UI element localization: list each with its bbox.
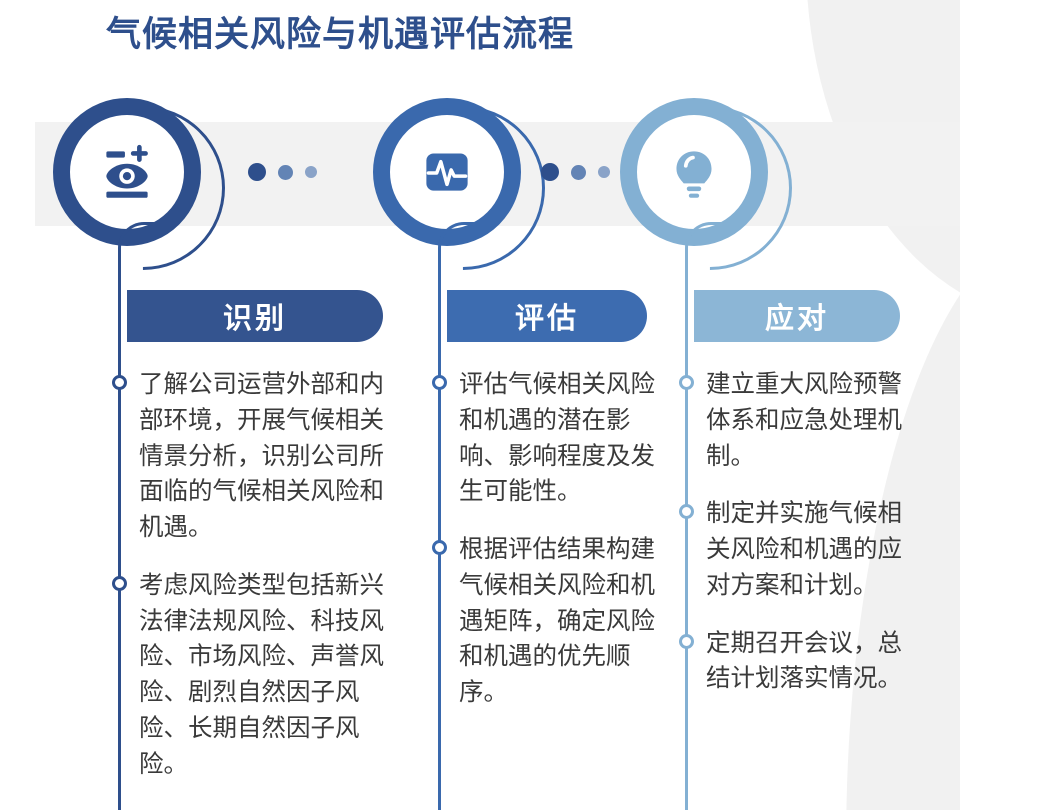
list-item: 考虑风险类型包括新兴法律法规风险、科技风险、市场风险、声誉风险、剧烈自然因子风险… [105,567,395,782]
background-right-mask [960,0,1056,810]
connector-dot-icon [598,166,610,178]
connector-dot-icon [278,165,293,180]
stage-node-assess[interactable] [373,98,521,246]
bullet-list-identify: 了解公司运营外部和内部环境，开展气候相关情景分析，识别公司所面临的气候相关风险和… [105,366,395,803]
connector-dots-assess-respond [541,163,610,181]
pulse-monitor-icon [414,139,480,205]
bullet-marker-icon [112,375,127,390]
bullet-text: 评估气候相关风险和机遇的潜在影响、影响程度及发生可能性。 [459,366,660,509]
list-item: 评估气候相关风险和机遇的潜在影响、影响程度及发生可能性。 [425,366,660,509]
bullet-marker-icon [679,504,694,519]
connector-dot-icon [248,163,266,181]
connector-elbow-assess [438,222,493,272]
lightbulb-icon [661,139,727,205]
stage-label-assess: 评估 [447,290,647,342]
bullet-marker-icon [432,540,447,555]
list-item: 制定并实施气候相关风险和机遇的应对方案和计划。 [672,495,907,602]
stage-icon-ring-identify [53,98,201,246]
list-item: 根据评估结果构建气候相关风险和机遇矩阵，确定风险和机遇的优先顺序。 [425,531,660,710]
connector-dot-icon [305,166,317,178]
page-title: 气候相关风险与机遇评估流程 [106,6,574,57]
bullet-text: 根据评估结果构建气候相关风险和机遇矩阵，确定风险和机遇的优先顺序。 [459,531,660,710]
list-item: 了解公司运营外部和内部环境，开展气候相关情景分析，识别公司所面临的气候相关风险和… [105,366,395,545]
stage-label-identify: 识别 [127,290,383,342]
bullet-text: 建立重大风险预警体系和应急处理机制。 [706,366,907,473]
bullet-marker-icon [112,576,127,591]
connector-elbow-identify [118,222,173,272]
bullet-list-assess: 评估气候相关风险和机遇的潜在影响、影响程度及发生可能性。 根据评估结果构建气候相… [425,366,660,732]
list-item: 定期召开会议，总结计划落实情况。 [672,625,907,697]
bullet-text: 制定并实施气候相关风险和机遇的应对方案和计划。 [706,495,907,602]
connector-dots-identify-assess [248,163,317,181]
stage-icon-ring-respond [620,98,768,246]
infographic-canvas: 气候相关风险与机遇评估流程 识别 了解公司运营外部和内部环境， [0,0,1056,810]
stage-icon-ring-assess [373,98,521,246]
bullet-text: 了解公司运营外部和内部环境，开展气候相关情景分析，识别公司所面临的气候相关风险和… [139,366,395,545]
stage-node-identify[interactable] [53,98,201,246]
eye-plus-icon [94,139,160,205]
bullet-marker-icon [679,375,694,390]
connector-elbow-respond [685,222,740,272]
bullet-marker-icon [432,375,447,390]
bullet-list-respond: 建立重大风险预警体系和应急处理机制。 制定并实施气候相关风险和机遇的应对方案和计… [672,366,907,718]
bullet-text: 定期召开会议，总结计划落实情况。 [706,625,907,697]
stage-node-respond[interactable] [620,98,768,246]
stage-label-respond: 应对 [694,290,900,342]
bullet-text: 考虑风险类型包括新兴法律法规风险、科技风险、市场风险、声誉风险、剧烈自然因子风险… [139,567,395,782]
connector-dot-icon [571,165,586,180]
list-item: 建立重大风险预警体系和应急处理机制。 [672,366,907,473]
connector-dot-icon [541,163,559,181]
bullet-marker-icon [679,634,694,649]
